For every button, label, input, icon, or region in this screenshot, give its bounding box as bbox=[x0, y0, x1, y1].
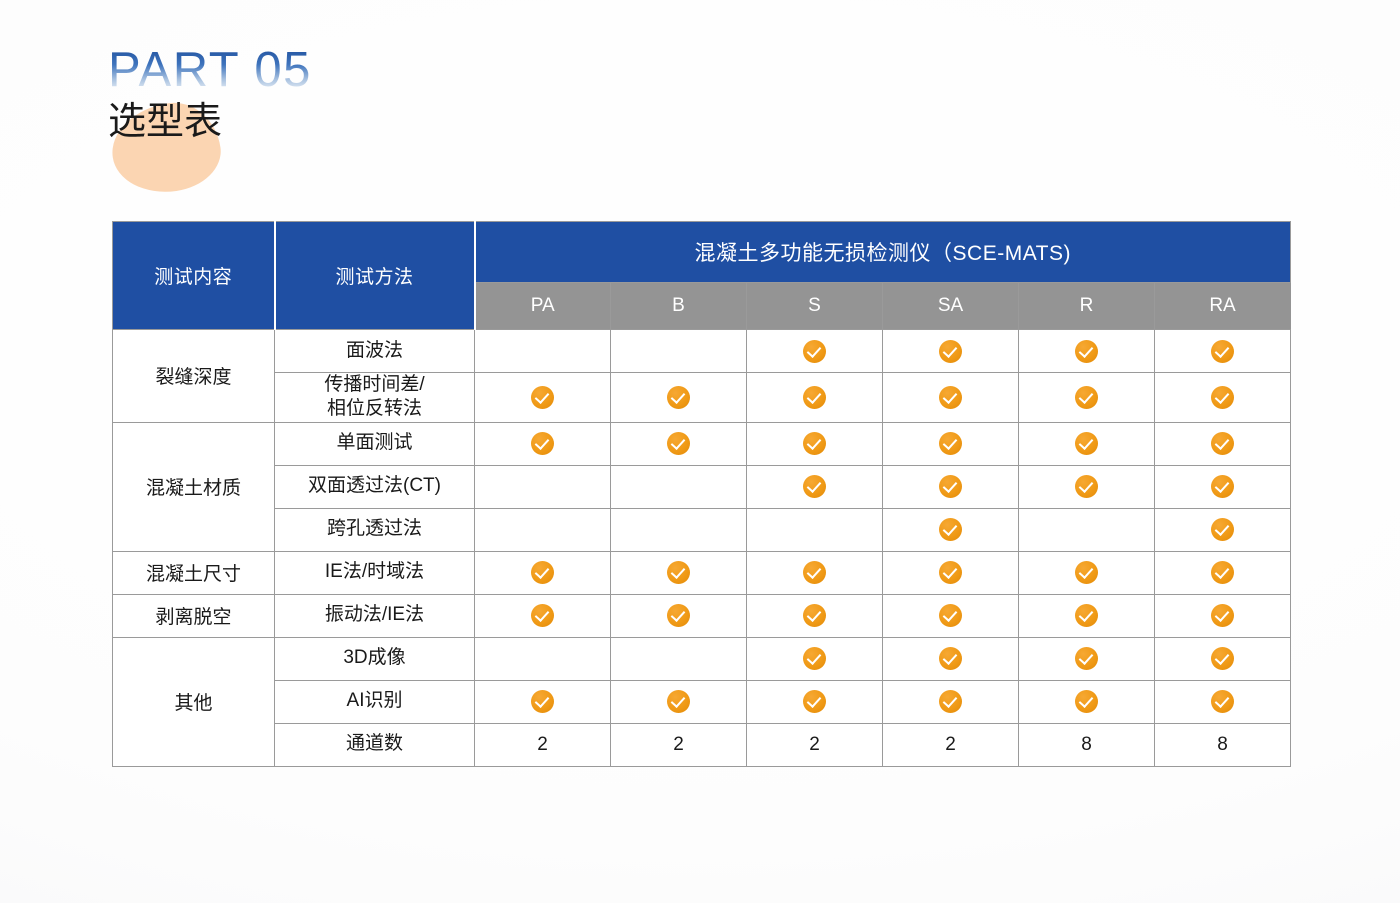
check-icon bbox=[1211, 647, 1234, 670]
check-icon-cell bbox=[611, 680, 747, 723]
check-icon bbox=[939, 647, 962, 670]
value-cell: 2 bbox=[747, 723, 883, 766]
check-icon-cell bbox=[747, 465, 883, 508]
check-icon-cell bbox=[1155, 637, 1291, 680]
header-model-s: S bbox=[747, 283, 883, 330]
check-icon bbox=[939, 340, 962, 363]
method-cell: 通道数 bbox=[275, 723, 475, 766]
check-icon-cell bbox=[883, 637, 1019, 680]
method-cell: AI识别 bbox=[275, 680, 475, 723]
check-icon bbox=[667, 386, 690, 409]
table-row: 混凝土尺寸IE法/时域法 bbox=[113, 551, 1291, 594]
check-icon-cell bbox=[1019, 330, 1155, 373]
check-icon bbox=[1075, 340, 1098, 363]
check-icon-cell bbox=[611, 594, 747, 637]
empty-cell bbox=[475, 637, 611, 680]
check-icon-cell bbox=[747, 637, 883, 680]
check-icon bbox=[939, 561, 962, 584]
check-icon-cell bbox=[1019, 551, 1155, 594]
check-icon bbox=[1075, 475, 1098, 498]
table-row: 剥离脱空振动法/IE法 bbox=[113, 594, 1291, 637]
check-icon-cell bbox=[747, 551, 883, 594]
check-icon-cell bbox=[475, 551, 611, 594]
check-icon-cell bbox=[1019, 637, 1155, 680]
check-icon-cell bbox=[475, 373, 611, 423]
check-icon-cell bbox=[475, 680, 611, 723]
check-icon bbox=[1211, 475, 1234, 498]
check-icon-cell bbox=[611, 373, 747, 423]
check-icon-cell bbox=[747, 373, 883, 423]
check-icon bbox=[939, 518, 962, 541]
method-cell: 振动法/IE法 bbox=[275, 594, 475, 637]
header-model-b: B bbox=[611, 283, 747, 330]
check-icon bbox=[1075, 561, 1098, 584]
check-icon-cell bbox=[1155, 680, 1291, 723]
check-icon bbox=[1211, 561, 1234, 584]
header-model-sa: SA bbox=[883, 283, 1019, 330]
empty-cell bbox=[611, 637, 747, 680]
method-cell: 传播时间差/相位反转法 bbox=[275, 373, 475, 423]
page-title: 选型表 bbox=[108, 102, 222, 144]
category-cell: 剥离脱空 bbox=[113, 594, 275, 637]
check-icon bbox=[667, 561, 690, 584]
empty-cell bbox=[475, 508, 611, 551]
check-icon-cell bbox=[1019, 422, 1155, 465]
check-icon bbox=[531, 690, 554, 713]
method-cell: 3D成像 bbox=[275, 637, 475, 680]
check-icon-cell bbox=[1155, 373, 1291, 423]
check-icon bbox=[1211, 690, 1234, 713]
empty-cell bbox=[475, 465, 611, 508]
check-icon-cell bbox=[747, 594, 883, 637]
check-icon-cell bbox=[1019, 680, 1155, 723]
check-icon-cell bbox=[611, 422, 747, 465]
check-icon bbox=[531, 386, 554, 409]
check-icon bbox=[1075, 604, 1098, 627]
table-row: 混凝土材质单面测试 bbox=[113, 422, 1291, 465]
check-icon bbox=[803, 647, 826, 670]
check-icon bbox=[1211, 518, 1234, 541]
category-cell: 裂缝深度 bbox=[113, 330, 275, 423]
header-test-content: 测试内容 bbox=[113, 222, 275, 330]
table-row: 其他3D成像 bbox=[113, 637, 1291, 680]
value-cell: 2 bbox=[475, 723, 611, 766]
check-icon bbox=[531, 604, 554, 627]
check-icon bbox=[667, 604, 690, 627]
check-icon-cell bbox=[1019, 465, 1155, 508]
check-icon bbox=[667, 690, 690, 713]
check-icon bbox=[939, 475, 962, 498]
check-icon bbox=[803, 432, 826, 455]
empty-cell bbox=[611, 508, 747, 551]
check-icon bbox=[531, 561, 554, 584]
empty-cell bbox=[747, 508, 883, 551]
check-icon bbox=[1211, 432, 1234, 455]
value-cell: 8 bbox=[1019, 723, 1155, 766]
check-icon bbox=[939, 432, 962, 455]
check-icon-cell bbox=[883, 508, 1019, 551]
table-row: 通道数222288 bbox=[113, 723, 1291, 766]
table-body: 裂缝深度面波法传播时间差/相位反转法混凝土材质单面测试双面透过法(CT)跨孔透过… bbox=[113, 330, 1291, 767]
value-cell: 8 bbox=[1155, 723, 1291, 766]
check-icon bbox=[803, 690, 826, 713]
check-icon-cell bbox=[611, 551, 747, 594]
empty-cell bbox=[611, 330, 747, 373]
check-icon bbox=[1211, 386, 1234, 409]
table-head: 测试内容 测试方法 混凝土多功能无损检测仪（SCE-MATS) PA B S S… bbox=[113, 222, 1291, 330]
table-header-row-1: 测试内容 测试方法 混凝土多功能无损检测仪（SCE-MATS) bbox=[113, 222, 1291, 283]
check-icon-cell bbox=[883, 422, 1019, 465]
check-icon-cell bbox=[1155, 422, 1291, 465]
check-icon bbox=[803, 386, 826, 409]
check-icon bbox=[1075, 386, 1098, 409]
value-cell: 2 bbox=[611, 723, 747, 766]
check-icon-cell bbox=[1019, 594, 1155, 637]
check-icon bbox=[803, 604, 826, 627]
check-icon bbox=[1075, 647, 1098, 670]
method-cell: IE法/时域法 bbox=[275, 551, 475, 594]
check-icon bbox=[803, 475, 826, 498]
table-row: AI识别 bbox=[113, 680, 1291, 723]
header-model-pa: PA bbox=[475, 283, 611, 330]
check-icon-cell bbox=[883, 680, 1019, 723]
header-product-group: 混凝土多功能无损检测仪（SCE-MATS) bbox=[475, 222, 1291, 283]
table-row: 跨孔透过法 bbox=[113, 508, 1291, 551]
check-icon-cell bbox=[1155, 330, 1291, 373]
table-row: 双面透过法(CT) bbox=[113, 465, 1291, 508]
table-row: 裂缝深度面波法 bbox=[113, 330, 1291, 373]
check-icon-cell bbox=[1155, 465, 1291, 508]
title-block: PART 05 选型表 bbox=[108, 46, 528, 206]
check-icon bbox=[531, 432, 554, 455]
empty-cell bbox=[1019, 508, 1155, 551]
part-label: PART 05 bbox=[108, 46, 312, 95]
check-icon bbox=[939, 604, 962, 627]
check-icon bbox=[1075, 432, 1098, 455]
check-icon-cell bbox=[747, 330, 883, 373]
method-cell: 跨孔透过法 bbox=[275, 508, 475, 551]
check-icon bbox=[667, 432, 690, 455]
category-cell: 混凝土材质 bbox=[113, 422, 275, 551]
method-cell: 双面透过法(CT) bbox=[275, 465, 475, 508]
check-icon bbox=[939, 386, 962, 409]
check-icon-cell bbox=[1019, 373, 1155, 423]
check-icon bbox=[939, 690, 962, 713]
method-cell: 单面测试 bbox=[275, 422, 475, 465]
method-line-2: 相位反转法 bbox=[275, 397, 474, 421]
check-icon bbox=[1211, 340, 1234, 363]
check-icon-cell bbox=[1155, 551, 1291, 594]
header-test-method: 测试方法 bbox=[275, 222, 475, 330]
method-line-1: 传播时间差/ bbox=[275, 373, 474, 397]
category-cell: 其他 bbox=[113, 637, 275, 766]
selection-spec-table: 测试内容 测试方法 混凝土多功能无损检测仪（SCE-MATS) PA B S S… bbox=[112, 221, 1291, 767]
empty-cell bbox=[475, 330, 611, 373]
check-icon bbox=[803, 340, 826, 363]
check-icon bbox=[1211, 604, 1234, 627]
header-model-r: R bbox=[1019, 283, 1155, 330]
check-icon-cell bbox=[747, 422, 883, 465]
method-cell: 面波法 bbox=[275, 330, 475, 373]
check-icon-cell bbox=[883, 330, 1019, 373]
check-icon bbox=[1075, 690, 1098, 713]
check-icon-cell bbox=[747, 680, 883, 723]
header-model-ra: RA bbox=[1155, 283, 1291, 330]
spec-table-container: 测试内容 测试方法 混凝土多功能无损检测仪（SCE-MATS) PA B S S… bbox=[112, 221, 1290, 767]
empty-cell bbox=[611, 465, 747, 508]
check-icon-cell bbox=[883, 465, 1019, 508]
check-icon-cell bbox=[883, 594, 1019, 637]
check-icon-cell bbox=[475, 422, 611, 465]
check-icon-cell bbox=[883, 551, 1019, 594]
table-row: 传播时间差/相位反转法 bbox=[113, 373, 1291, 423]
check-icon bbox=[803, 561, 826, 584]
category-cell: 混凝土尺寸 bbox=[113, 551, 275, 594]
check-icon-cell bbox=[475, 594, 611, 637]
check-icon-cell bbox=[1155, 508, 1291, 551]
value-cell: 2 bbox=[883, 723, 1019, 766]
check-icon-cell bbox=[1155, 594, 1291, 637]
check-icon-cell bbox=[883, 373, 1019, 423]
